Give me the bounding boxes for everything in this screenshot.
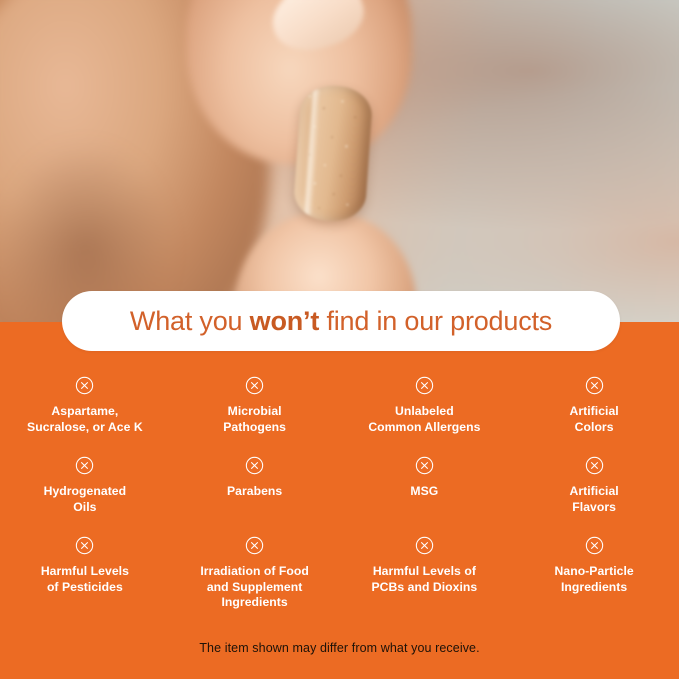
page-title: What you won’t find in our products	[130, 306, 552, 337]
grid-item: Unlabeled Common Allergens	[340, 368, 510, 448]
circle-x-icon	[245, 456, 264, 475]
circle-x-icon	[75, 376, 94, 395]
photo-tablet	[292, 84, 373, 224]
title-emphasis: won’t	[250, 306, 319, 336]
circle-x-icon	[415, 536, 434, 555]
grid-item: Irradiation of Food and Supplement Ingre…	[170, 528, 340, 608]
circle-x-icon	[245, 376, 264, 395]
grid-item: MSG	[340, 448, 510, 528]
footer: The item shown may differ from what you …	[0, 639, 679, 657]
title-suffix: find in our products	[319, 306, 552, 336]
grid-item: Artificial Colors	[509, 368, 679, 448]
grid-item: Artificial Flavors	[509, 448, 679, 528]
photo-tablet-highlight	[305, 88, 321, 215]
circle-x-icon	[585, 456, 604, 475]
title-banner: What you won’t find in our products	[62, 291, 620, 351]
circle-x-icon	[75, 536, 94, 555]
grid-item: Nano-Particle Ingredients	[509, 528, 679, 608]
grid-item: Aspartame, Sucralose, or Ace K	[0, 368, 170, 448]
grid-item: Hydrogenated Oils	[0, 448, 170, 528]
circle-x-icon	[415, 456, 434, 475]
grid-item-label: Parabens	[227, 484, 282, 500]
excluded-ingredients-grid: Aspartame, Sucralose, or Ace K Microbial…	[0, 368, 679, 608]
product-photo	[0, 0, 679, 322]
grid-item-label: Harmful Levels of Pesticides	[41, 564, 129, 595]
grid-item: Harmful Levels of PCBs and Dioxins	[340, 528, 510, 608]
grid-item-label: Unlabeled Common Allergens	[368, 404, 480, 435]
circle-x-icon	[585, 536, 604, 555]
grid-item-label: Artificial Colors	[569, 404, 618, 435]
grid-item-label: Hydrogenated Oils	[44, 484, 127, 515]
grid-item-label: Microbial Pathogens	[223, 404, 286, 435]
grid-item-label: Artificial Flavors	[569, 484, 618, 515]
grid-item: Parabens	[170, 448, 340, 528]
grid-item-label: Aspartame, Sucralose, or Ace K	[27, 404, 143, 435]
grid-item-label: MSG	[410, 484, 438, 500]
grid-item: Harmful Levels of Pesticides	[0, 528, 170, 608]
circle-x-icon	[245, 536, 264, 555]
grid-item-label: Irradiation of Food and Supplement Ingre…	[200, 564, 309, 611]
title-prefix: What you	[130, 306, 250, 336]
product-infographic: What you won’t find in our products Aspa…	[0, 0, 679, 679]
grid-item-label: Nano-Particle Ingredients	[555, 564, 634, 595]
circle-x-icon	[585, 376, 604, 395]
disclaimer-text: The item shown may differ from what you …	[199, 641, 479, 655]
circle-x-icon	[75, 456, 94, 475]
circle-x-icon	[415, 376, 434, 395]
grid-item: Microbial Pathogens	[170, 368, 340, 448]
grid-item-label: Harmful Levels of PCBs and Dioxins	[371, 564, 477, 595]
